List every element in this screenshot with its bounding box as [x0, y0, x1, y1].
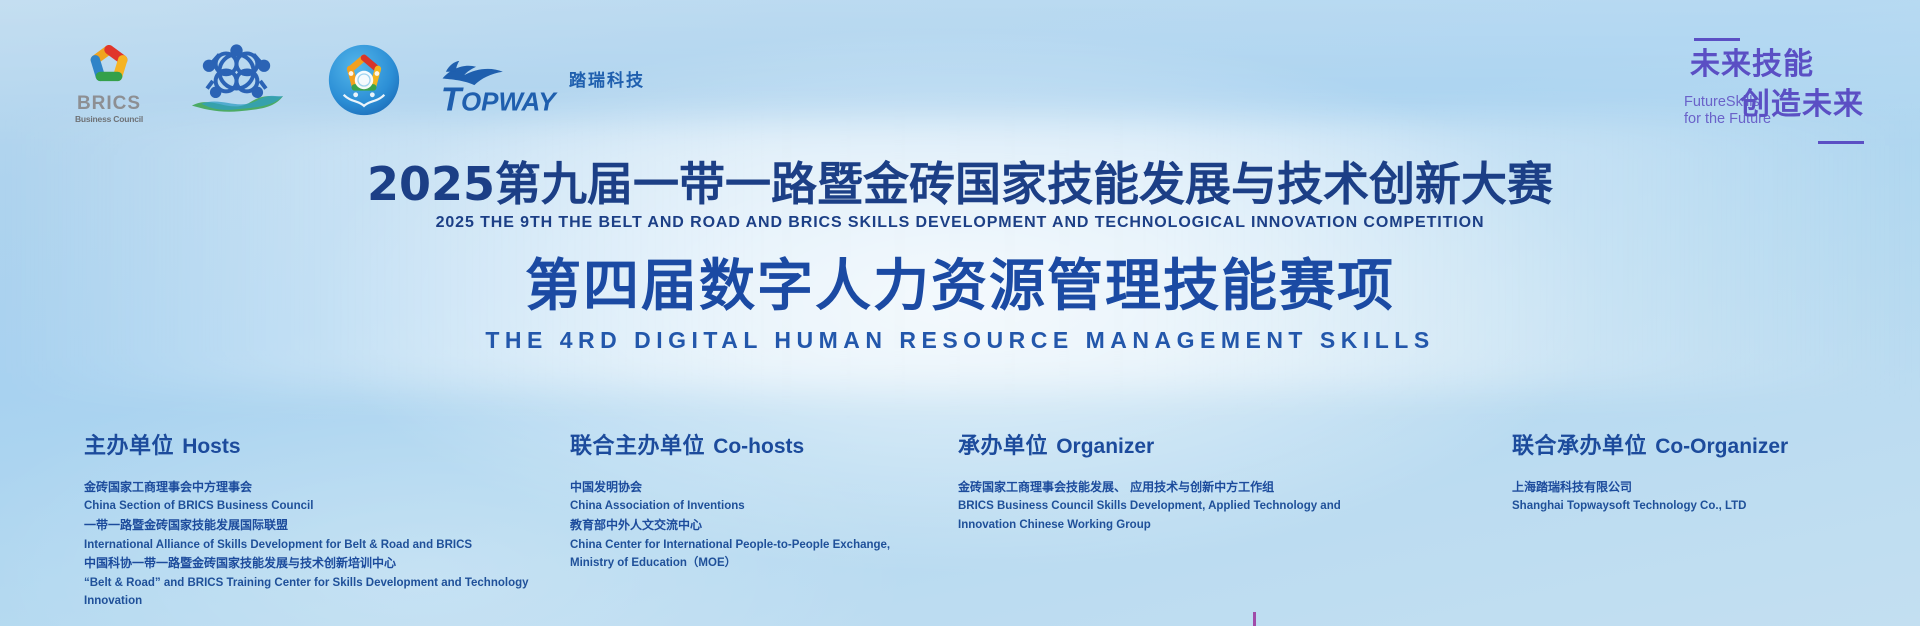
organizer-column-hosts: 主办单位 Hosts 金砖国家工商理事会中方理事会 China Section …	[84, 428, 554, 611]
cohosts-heading-cn: 联合主办单位	[570, 434, 705, 459]
alliance-knot-icon	[184, 43, 289, 117]
organizer-heading-en: Organizer	[1056, 435, 1154, 458]
event-banner: BRICS Business Council	[0, 0, 1920, 626]
host-entry-cn: 中国科协一带一路暨金砖国家技能发展与技术创新培训中心	[84, 554, 554, 573]
cohost-entry-cn: 教育部中外人文交流中心	[570, 516, 900, 535]
slogan-top-rule	[1694, 38, 1740, 41]
event-subtitle-cn: 第四届数字人力资源管理技能赛项	[0, 256, 1920, 318]
organizer-heading-cn: 承办单位	[958, 434, 1048, 459]
organizer-entry-cn: 金砖国家工商理事会技能发展、 应用技术与创新中方工作组	[958, 478, 1388, 497]
cohosts-heading-en: Co-hosts	[713, 435, 804, 458]
cohosts-heading: 联合主办单位 Co-hosts	[570, 428, 900, 460]
cohosts-body: 中国发明协会 China Association of Inventions 教…	[570, 478, 900, 573]
event-subtitle-en: THE 4RD DIGITAL HUMAN RESOURCE MANAGEMEN…	[0, 327, 1920, 354]
organizer-heading: 承办单位 Organizer	[958, 428, 1388, 460]
slogan-line-2: 创造未来	[1740, 90, 1864, 120]
competition-title-en: 2025 THE 9TH THE BELT AND ROAD AND BRICS…	[0, 214, 1920, 232]
host-entry-cn: 金砖国家工商理事会中方理事会	[84, 478, 554, 497]
belt-road-alliance-logo	[184, 43, 289, 117]
host-entry-en: International Alliance of Skills Develop…	[84, 536, 554, 555]
cohost-entry-en: China Association of Inventions	[570, 497, 900, 516]
topway-chinese-name: 踏瑞科技	[569, 66, 645, 91]
hosts-heading: 主办单位 Hosts	[84, 428, 554, 460]
coorganizer-entry-en: Shanghai Topwaysoft Technology Co., LTD	[1512, 497, 1892, 516]
host-entry-en: China Section of BRICS Business Council	[84, 497, 554, 516]
star-emblem-icon	[327, 43, 401, 117]
organizer-column-organizer: 承办单位 Organizer 金砖国家工商理事会技能发展、 应用技术与创新中方工…	[958, 428, 1388, 535]
organizer-column-cohosts: 联合主办单位 Co-hosts 中国发明协会 China Association…	[570, 428, 900, 573]
competition-title-cn: 2025第九届一带一路暨金砖国家技能发展与技术创新大赛	[0, 160, 1920, 209]
hosts-heading-en: Hosts	[182, 435, 240, 458]
brics-business-council-logo: BRICS Business Council	[72, 41, 146, 119]
topway-dragon-wordmark-icon: T OPWAY	[439, 55, 565, 117]
hosts-body: 金砖国家工商理事会中方理事会 China Section of BRICS Bu…	[84, 478, 554, 611]
coorganizer-heading: 联合承办单位 Co-Organizer	[1512, 428, 1892, 460]
title-block: 2025第九届一带一路暨金砖国家技能发展与技术创新大赛 2025 THE 9TH…	[0, 160, 1920, 354]
slogan-line-1: 未来技能	[1690, 50, 1814, 80]
brics-subtitle: Business Council	[72, 115, 146, 124]
future-skills-slogan: 未来技能 FutureSkillsfor the Future 创造未来	[1616, 34, 1866, 144]
host-entry-en: “Belt & Road” and BRICS Training Center …	[84, 574, 554, 611]
coorganizer-heading-cn: 联合承办单位	[1512, 434, 1647, 459]
brics-star-mark-icon	[72, 41, 146, 93]
topway-logo: T OPWAY 踏瑞科技	[439, 43, 645, 117]
slogan-bottom-rule	[1818, 141, 1864, 144]
cohost-entry-en: China Center for International People-to…	[570, 536, 900, 573]
brics-wordmark: BRICS	[72, 94, 146, 113]
coorganizer-body: 上海踏瑞科技有限公司 Shanghai Topwaysoft Technolog…	[1512, 478, 1892, 516]
svg-text:OPWAY: OPWAY	[461, 86, 558, 116]
bottom-center-tick-mark	[1253, 612, 1256, 626]
cohost-entry-cn: 中国发明协会	[570, 478, 900, 497]
organizer-body: 金砖国家工商理事会技能发展、 应用技术与创新中方工作组 BRICS Busine…	[958, 478, 1388, 535]
coorganizer-heading-en: Co-Organizer	[1655, 435, 1788, 458]
hosts-heading-cn: 主办单位	[84, 434, 174, 459]
host-entry-cn: 一带一路暨金砖国家技能发展国际联盟	[84, 516, 554, 535]
organizer-entry-en: BRICS Business Council Skills Developmen…	[958, 497, 1388, 534]
coorganizer-entry-cn: 上海踏瑞科技有限公司	[1512, 478, 1892, 497]
organizer-column-coorganizer: 联合承办单位 Co-Organizer 上海踏瑞科技有限公司 Shanghai …	[1512, 428, 1892, 516]
brics-star-emblem-logo	[327, 43, 401, 117]
logo-strip: BRICS Business Council	[72, 40, 645, 120]
